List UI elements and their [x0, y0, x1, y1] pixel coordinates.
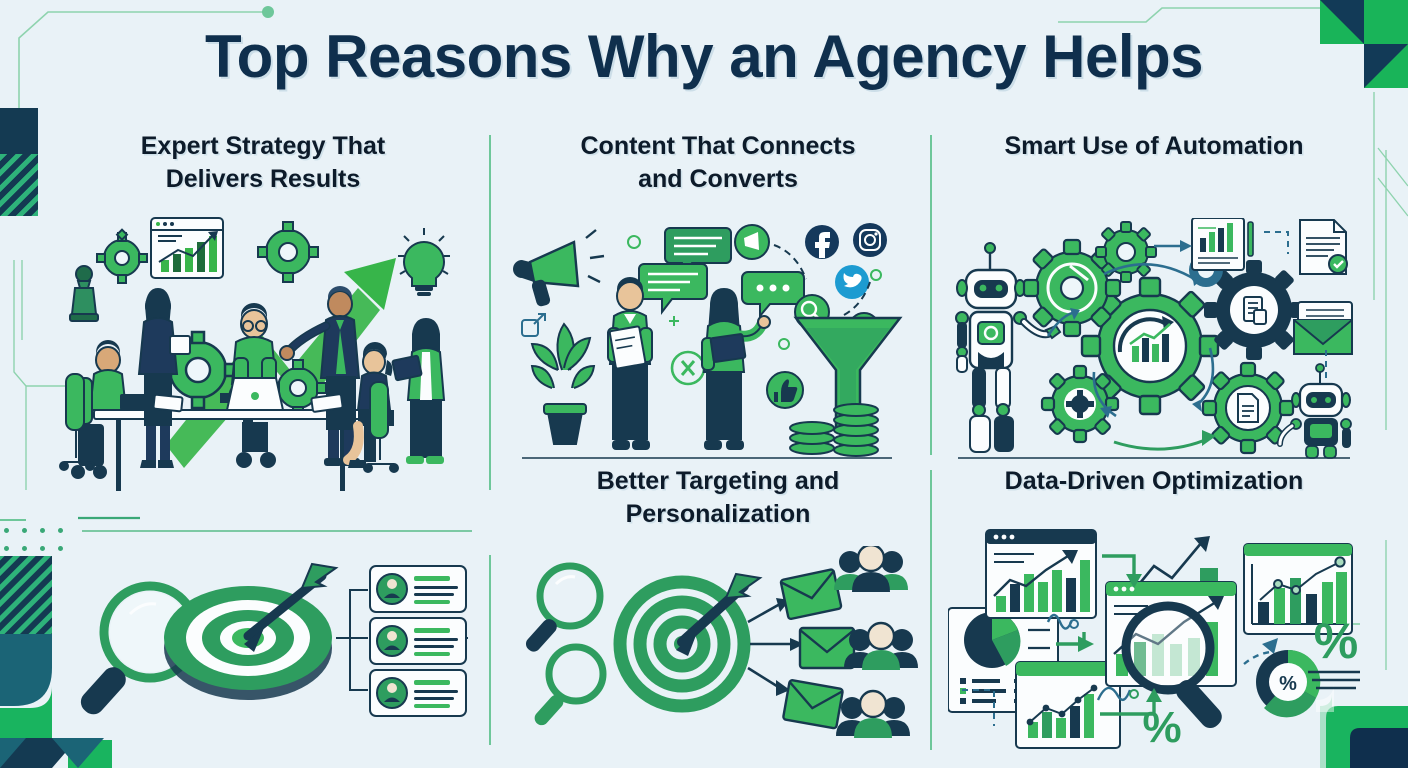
- panel-heading-expert-strategy: Expert Strategy That Delivers Results: [58, 130, 468, 197]
- user-group-icon: [834, 546, 908, 592]
- illustration-magnifier-target-profiles: [58, 540, 468, 740]
- gear-icon: [97, 230, 147, 283]
- facebook-icon: [805, 225, 839, 259]
- panel-profile-targeting: [58, 540, 468, 750]
- thumbs-up-icon: [767, 372, 803, 408]
- percent-donut-icon: %: [1256, 650, 1320, 717]
- illustration-analytics-dashboards: % % %: [948, 526, 1360, 756]
- profile-card-icon: [370, 566, 466, 612]
- profile-card-icon: [370, 670, 466, 716]
- illustration-content-marketing: $: [512, 220, 924, 470]
- document-icon: [1238, 394, 1258, 422]
- illustration-automation-workflow: [948, 218, 1360, 468]
- infographic-canvas: Top Reasons Why an Agency Helps Expert S…: [0, 0, 1408, 768]
- chess-pawn-icon: [70, 266, 98, 321]
- person-icon: [608, 277, 652, 450]
- envelope-icon: [780, 569, 841, 619]
- svg-text:%: %: [1279, 673, 1297, 695]
- megaphone-badge-icon: [735, 225, 769, 259]
- divider-vertical-right: [930, 135, 932, 455]
- bar-chart-window-icon: [151, 218, 223, 278]
- target-arrow-icon: [620, 574, 760, 706]
- dot-grid-decoration: [4, 528, 66, 554]
- illustration-target-audience: [512, 546, 924, 746]
- lightbulb-icon: [398, 228, 450, 296]
- coins-icon: [790, 404, 878, 456]
- panel-heading-content-connects: Content That Connects and Converts: [512, 130, 924, 197]
- divider-horizontal-left: [82, 530, 472, 532]
- panel-heading-better-targeting: Better Targeting and Personalization: [512, 465, 924, 532]
- panel-better-targeting: Better Targeting and Personalization: [512, 465, 924, 750]
- percent-icon: %: [1142, 703, 1181, 752]
- gear-icon: [1042, 366, 1118, 442]
- panel-content-connects: Content That Connects and Converts: [512, 130, 924, 460]
- document-check-icon: [1300, 220, 1347, 274]
- panel-heading-data-driven: Data-Driven Optimization: [948, 465, 1360, 498]
- user-group-icon: [836, 691, 910, 738]
- profile-card-icon: [370, 618, 466, 664]
- person-icon: [392, 318, 444, 464]
- envelope-icon: [783, 680, 843, 729]
- line-chart-window-icon: [1016, 662, 1120, 748]
- panel-heading-smart-automation: Smart Use of Automation: [948, 130, 1360, 163]
- panel-data-driven-optimization: Data-Driven Optimization: [948, 465, 1360, 750]
- magnifier-icon: [523, 566, 600, 654]
- instagram-icon: [853, 223, 887, 257]
- divider-vertical-left-lower: [489, 555, 491, 745]
- magnifier-icon: [532, 647, 603, 728]
- person-icon: [227, 303, 283, 468]
- speech-bubble-icon: [639, 264, 707, 312]
- target-arrow-icon: [164, 564, 336, 700]
- panel-smart-automation: Smart Use of Automation: [948, 130, 1360, 460]
- document-icon: [1244, 297, 1266, 324]
- divider-vertical-right-lower: [930, 470, 932, 750]
- divider-vertical-left: [489, 135, 491, 490]
- page-title: Top Reasons Why an Agency Helps: [0, 22, 1408, 91]
- panel-expert-strategy: Expert Strategy That Delivers Results: [58, 130, 468, 495]
- envelope-icon: [1294, 302, 1352, 354]
- bar-chart-window-icon: [986, 530, 1096, 618]
- chart-document-icon: [1192, 218, 1253, 270]
- corner-stripe-box-top-left: [0, 108, 38, 216]
- gear-icon: [258, 222, 318, 282]
- external-link-icon: [522, 314, 545, 336]
- plant-icon: [532, 324, 594, 444]
- illustration-team-meeting: [58, 210, 468, 500]
- megaphone-icon: [513, 230, 604, 307]
- x-circle-icon: [672, 352, 704, 384]
- percent-icon: %: [1314, 613, 1358, 669]
